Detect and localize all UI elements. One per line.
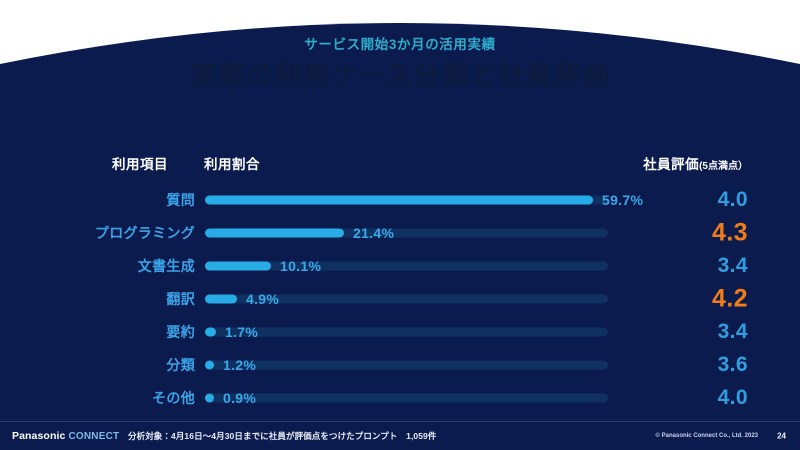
column-header-item: 利用項目 [112,153,168,173]
bar-track [205,196,608,205]
bar-value-label: 4.9% [246,291,279,307]
table-row: 翻訳 4.9% 4.2 [0,284,800,314]
bar-track [205,328,608,337]
logo-panasonic-text: Panasonic [12,430,65,442]
row-label: 文書生成 [40,256,195,276]
column-header-share: 利用割合 [204,153,260,173]
bar-track [205,262,608,271]
score-value: 3.6 [718,353,748,377]
score-value: 3.4 [718,320,748,344]
score-value: 3.4 [718,254,748,278]
bar-value-label: 1.2% [223,357,256,373]
table-row: 分類 1.2% 3.6 [0,350,800,380]
bar-fill [205,361,214,370]
score-value: 4.3 [712,219,748,248]
slide-footer: Panasonic CONNECT 分析対象：4月16日〜4月30日までに社員が… [0,421,800,450]
bar-fill [205,196,593,205]
row-label: 要約 [40,322,195,342]
bar-value-label: 0.9% [223,390,256,406]
bar-track [205,229,608,238]
table-row: その他 0.9% 4.0 [0,383,800,413]
slide-root: サービス開始3か月の活用実績 実際の利用ケース分類と社員評価 利用項目 利用割合… [0,0,800,450]
bar-value-label: 59.7% [602,192,643,208]
bar-fill [205,229,344,238]
bar-track [205,394,608,403]
page-number: 24 [777,432,786,441]
panasonic-connect-logo: Panasonic CONNECT [12,430,119,442]
row-label: その他 [40,388,195,408]
usage-table: 利用項目 利用割合 社員評価(5点満点） 質問 59.7% 4.0 プログラミン… [0,0,800,450]
bar-fill [205,394,214,403]
column-header-score-text: 社員評価 [643,157,699,172]
bar-track [205,361,608,370]
column-header-score: 社員評価(5点満点） [643,153,748,173]
table-row: 文書生成 10.1% 3.4 [0,251,800,281]
score-value: 4.2 [712,285,748,314]
column-header-score-note: (5点満点） [699,161,748,172]
table-row: 要約 1.7% 3.4 [0,317,800,347]
row-label: 質問 [40,190,195,210]
bar-fill [205,262,271,271]
bar-fill [205,328,216,337]
bar-value-label: 21.4% [353,225,394,241]
score-value: 4.0 [718,386,748,410]
table-row: プログラミング 21.4% 4.3 [0,218,800,248]
logo-connect-text: CONNECT [68,431,119,442]
row-label: 翻訳 [40,289,195,309]
footnote-text: 分析対象：4月16日〜4月30日までに社員が評価点をつけたプロンプト 1,059… [128,430,436,442]
row-label: 分類 [40,355,195,375]
table-row: 質問 59.7% 4.0 [0,185,800,215]
score-value: 4.0 [718,188,748,212]
bar-fill [205,295,237,304]
row-label: プログラミング [40,223,195,243]
bar-value-label: 1.7% [225,324,258,340]
bar-value-label: 10.1% [280,258,321,274]
copyright-text: © Panasonic Connect Co., Ltd. 2023 [656,433,758,439]
